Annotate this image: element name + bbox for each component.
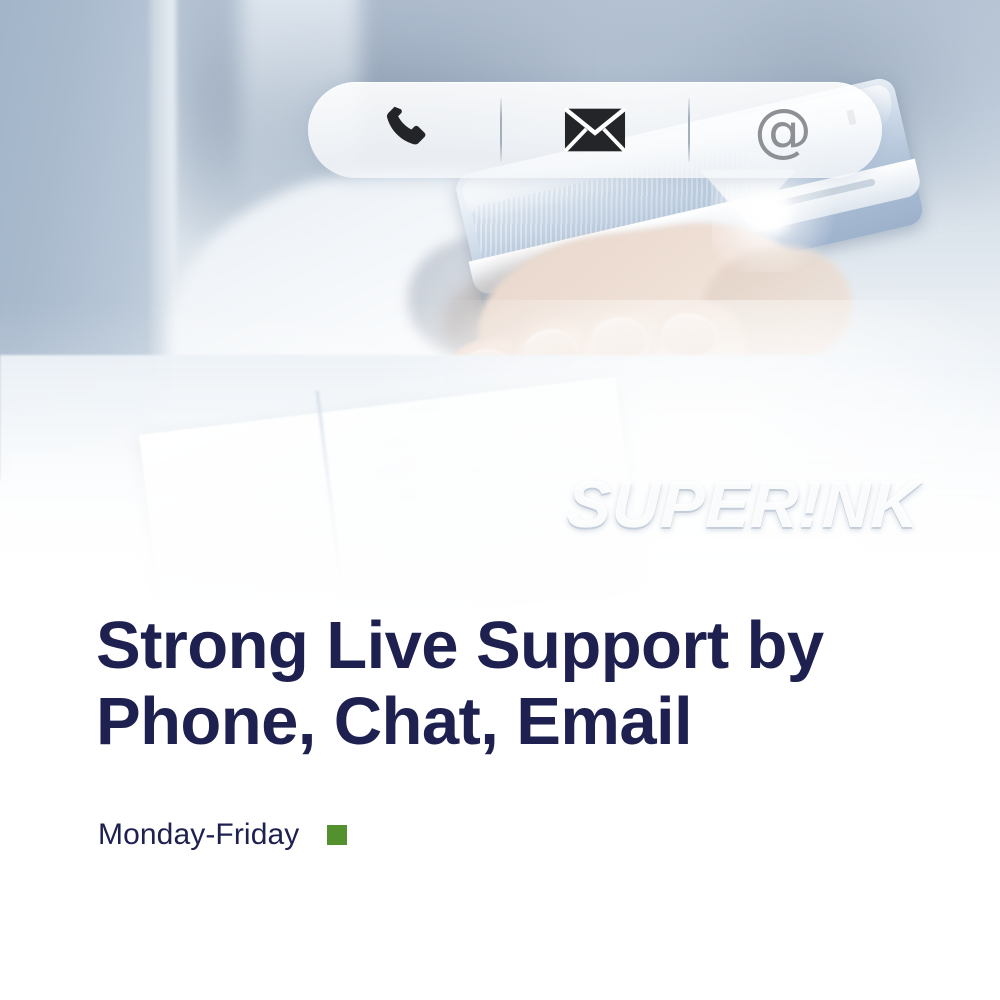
- contact-bar-divider-2: [688, 98, 690, 162]
- page-title: Strong Live Support by Phone, Chat, Emai…: [96, 608, 936, 761]
- green-accent-square: [327, 825, 347, 845]
- availability-row: Monday-Friday: [98, 818, 347, 852]
- contact-bar: @: [308, 82, 882, 178]
- contact-bar-pill: @: [308, 82, 882, 178]
- envelope-icon: [564, 107, 626, 153]
- availability-label: Monday-Friday: [98, 818, 299, 852]
- photo-desk-highlight: [380, 300, 1000, 620]
- support-banner: SUPER!NK: [0, 0, 1000, 1000]
- contact-bar-divider-1: [500, 98, 502, 162]
- contact-option-email[interactable]: [540, 95, 650, 165]
- contact-bar-pointer: [700, 170, 796, 226]
- contact-option-phone[interactable]: [352, 95, 462, 165]
- contact-bar-pointer-triangle: [700, 170, 796, 224]
- contact-option-at[interactable]: @: [728, 95, 838, 165]
- at-sign-icon: @: [754, 101, 812, 159]
- superink-watermark: SUPER!NK: [566, 466, 921, 542]
- phone-icon: [379, 102, 435, 158]
